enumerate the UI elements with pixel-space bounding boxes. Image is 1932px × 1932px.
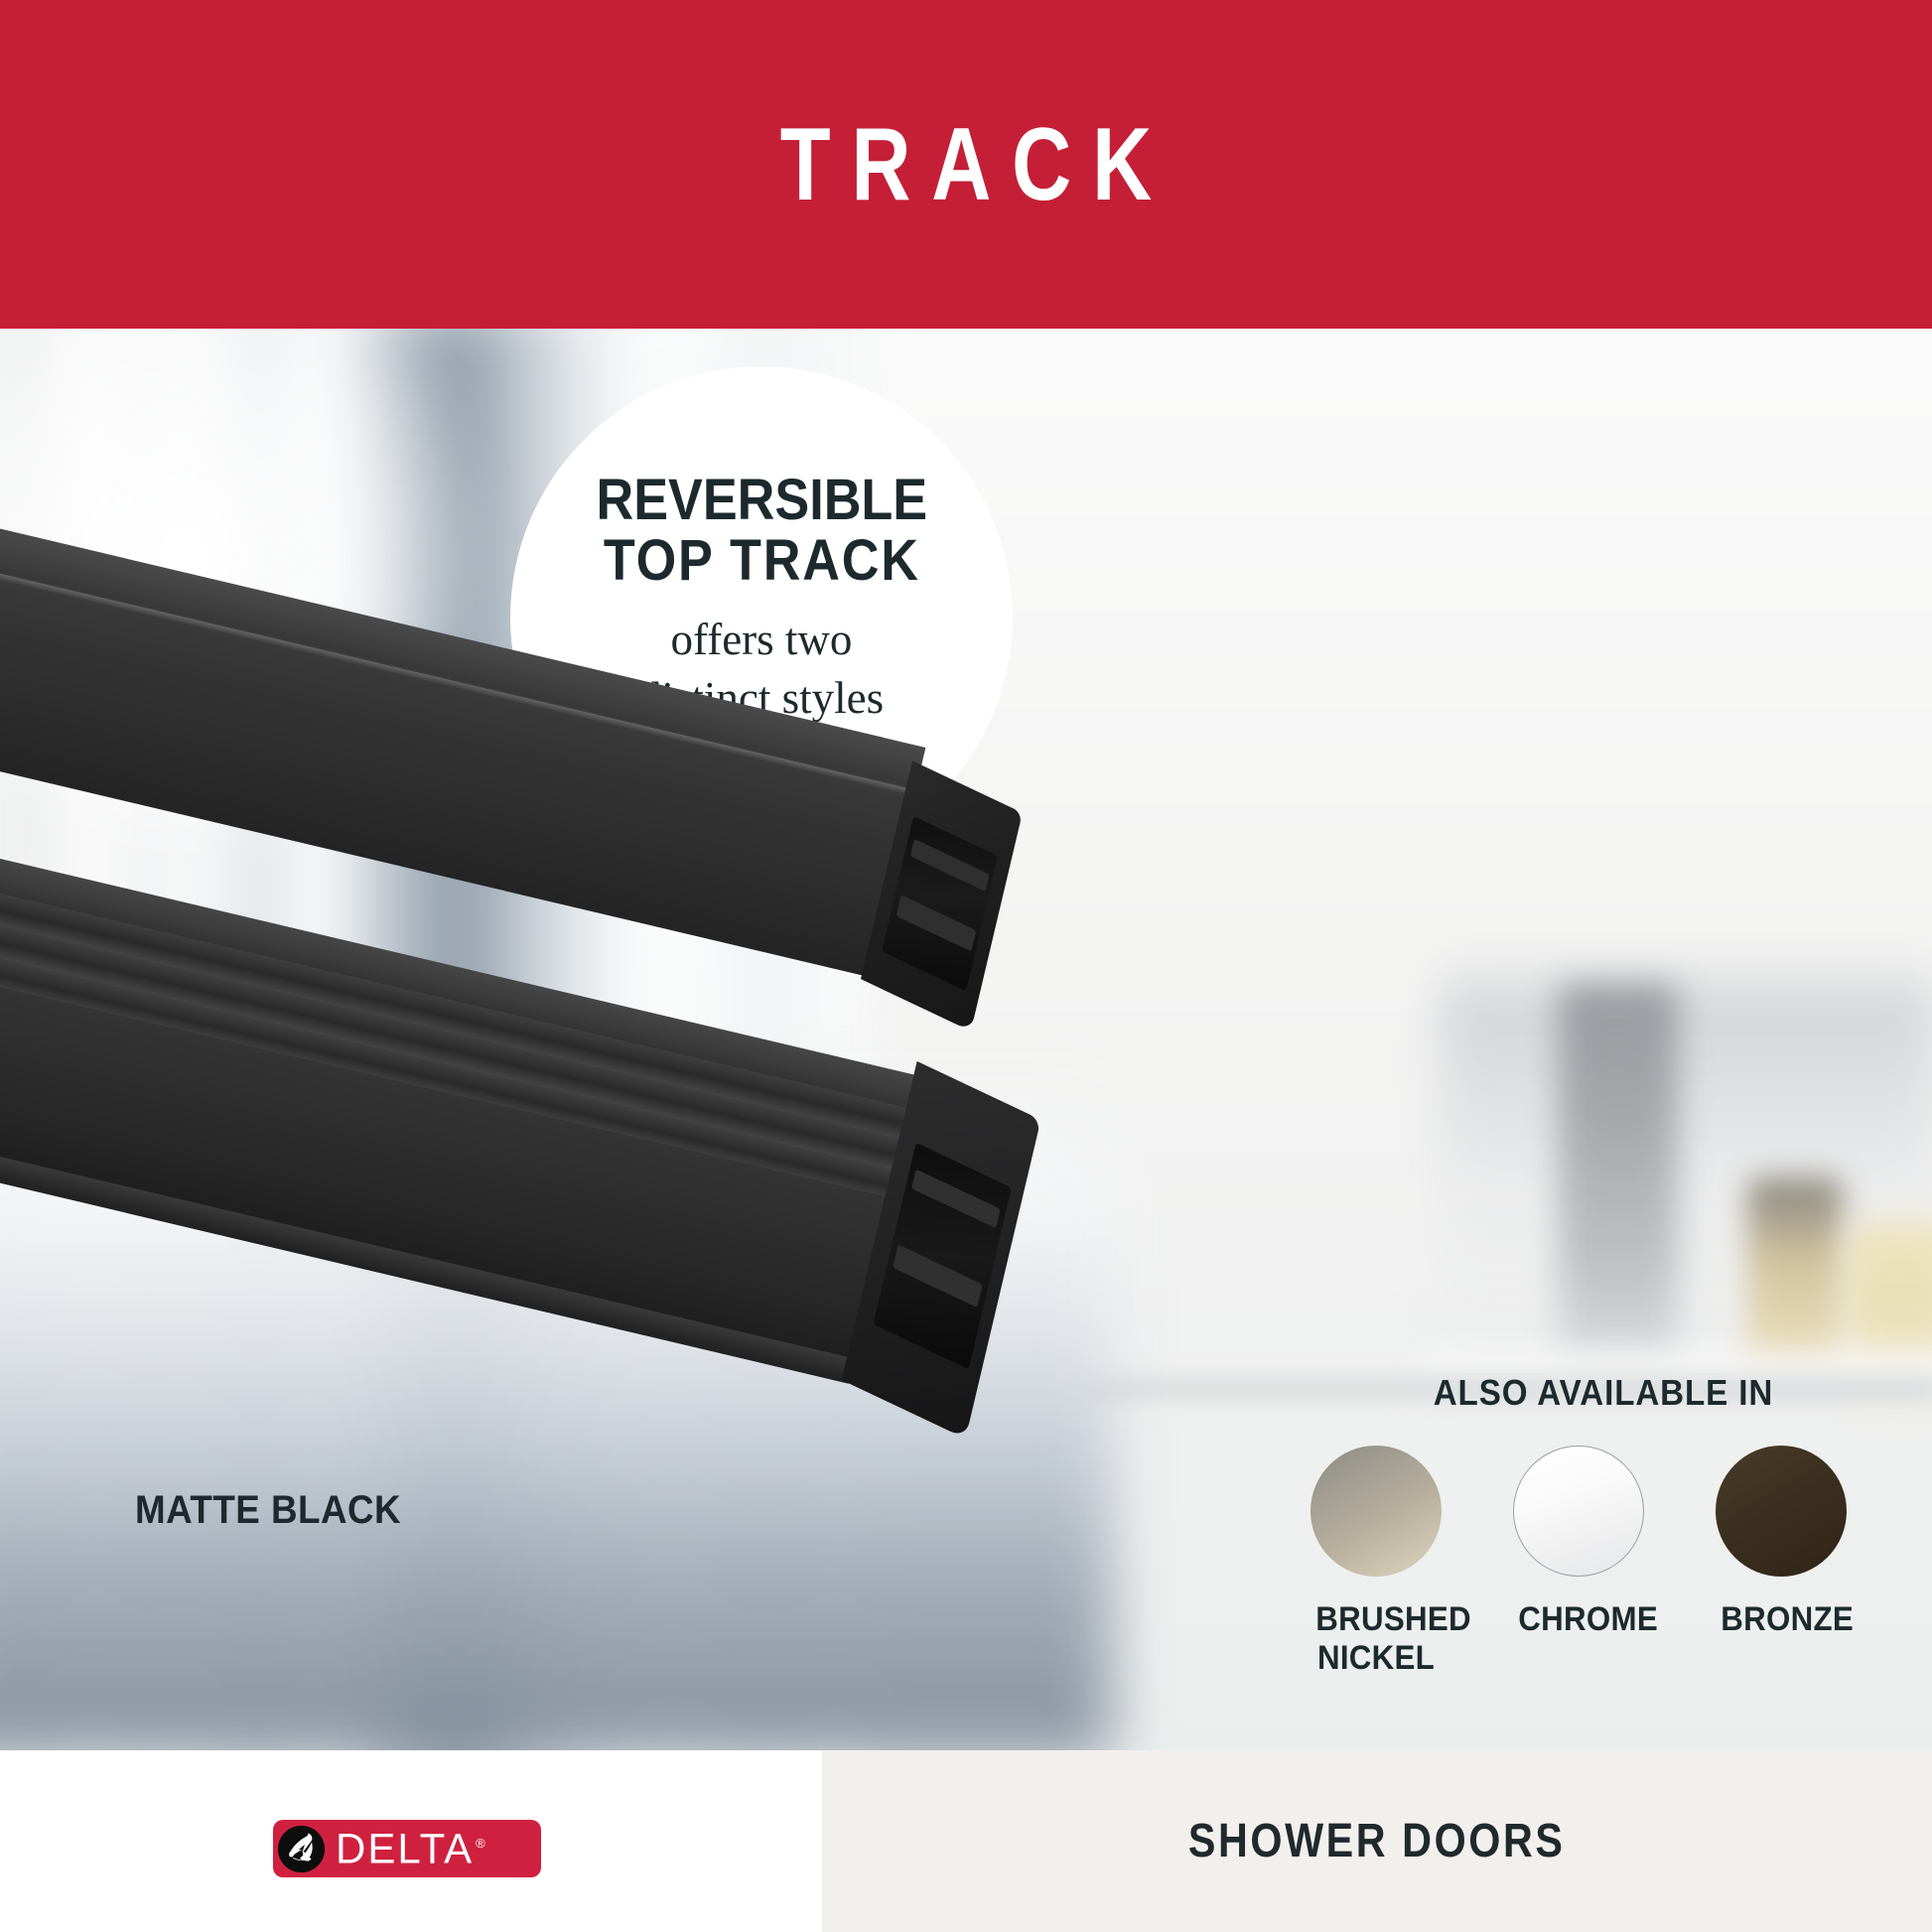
delta-triangle-icon	[278, 1826, 325, 1872]
finish-label: BRONZE	[1721, 1600, 1841, 1639]
callout-circle: REVERSIBLE TOP TRACK offers two distinct…	[510, 366, 1013, 869]
finish-option-brushed-nickel[interactable]: BRUSHED NICKEL	[1311, 1446, 1442, 1678]
callout-headline-line2: TOP TRACK	[596, 530, 927, 591]
callout-accent-rule	[720, 757, 803, 765]
page-title: TRACK	[759, 113, 1173, 216]
finish-option-bronze[interactable]: BRONZE	[1716, 1446, 1847, 1678]
delta-logo[interactable]: DELTA®	[273, 1820, 541, 1877]
product-photo-scene: REVERSIBLE TOP TRACK offers two distinct…	[0, 329, 1932, 1750]
finish-label-line2: NICKEL	[1317, 1639, 1435, 1677]
available-finishes: ALSO AVAILABLE IN BRUSHED NICKEL CHROME	[1311, 1372, 1906, 1414]
bronze-swatch-icon	[1716, 1446, 1847, 1577]
product-marketing-image: TRACK REVERSIBLE TOP TRACK offers two di…	[0, 0, 1932, 1932]
registered-mark: ®	[476, 1836, 487, 1851]
finish-label: BRUSHED NICKEL	[1315, 1600, 1436, 1678]
chrome-swatch-icon	[1513, 1446, 1644, 1577]
callout-headline: REVERSIBLE TOP TRACK	[596, 470, 927, 592]
available-finishes-title: ALSO AVAILABLE IN	[1334, 1372, 1873, 1414]
callout-subtext-line1: offers two	[671, 615, 853, 664]
callout-headline-line1: REVERSIBLE	[596, 468, 927, 532]
finish-label-line1: CHROME	[1518, 1600, 1658, 1638]
finish-label-line1: BRUSHED	[1315, 1600, 1471, 1638]
background-bottle-tall	[1559, 984, 1678, 1361]
finish-label: CHROME	[1518, 1600, 1638, 1639]
finish-swatch-row: BRUSHED NICKEL CHROME BRONZE	[1311, 1446, 1906, 1678]
callout-subtext: offers two distinct styles	[639, 611, 884, 727]
background-bottle-amber	[1747, 1177, 1843, 1386]
primary-finish-label: MATTE BLACK	[135, 1488, 401, 1533]
brushed-nickel-swatch-icon	[1311, 1446, 1442, 1577]
callout-subtext-line2: distinct styles	[639, 673, 884, 723]
header-banner: TRACK	[0, 0, 1932, 329]
delta-wordmark: DELTA®	[336, 1825, 487, 1873]
finish-label-line1: BRONZE	[1721, 1600, 1854, 1638]
background-window-glow	[0, 329, 496, 865]
footer-category-panel: SHOWER DOORS	[822, 1750, 1932, 1932]
background-tub-surface	[0, 1063, 1112, 1750]
footer-category-label: SHOWER DOORS	[1188, 1814, 1566, 1868]
finish-option-chrome[interactable]: CHROME	[1513, 1446, 1644, 1678]
